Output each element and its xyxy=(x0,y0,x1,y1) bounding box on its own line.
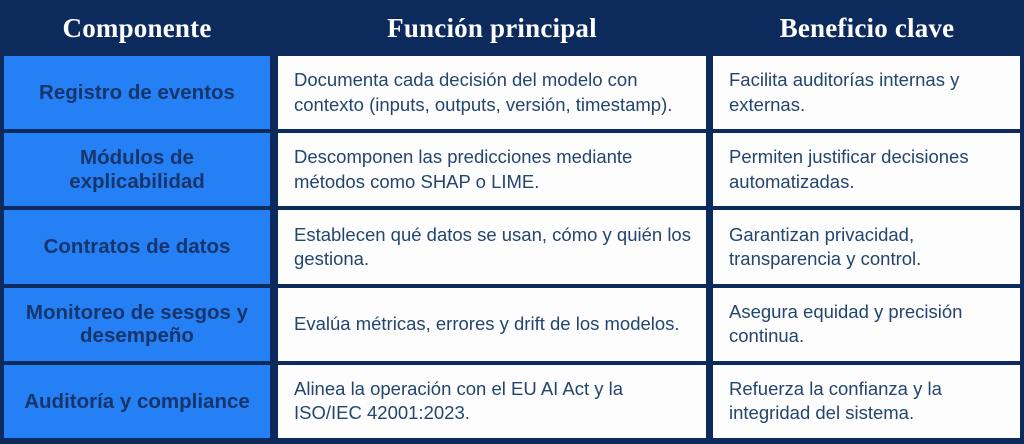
row-beneficio-cell: Facilita auditorías internas y externas. xyxy=(713,56,1020,129)
row-beneficio-text: Garantizan privacidad, transparencia y c… xyxy=(729,223,1006,272)
comparison-table: Componente Función principal Beneficio c… xyxy=(0,0,1024,444)
table-row: Auditoría y compliance Alinea la operaci… xyxy=(4,365,1020,438)
row-beneficio-cell: Permiten justificar decisiones automatiz… xyxy=(713,133,1020,206)
column-header-funcion-principal: Función principal xyxy=(274,0,710,56)
table-row: Módulos de explicabilidad Descomponen la… xyxy=(4,133,1020,206)
column-header-label: Función principal xyxy=(387,13,597,44)
row-funcion-text: Alinea la operación con el EU AI Act y l… xyxy=(294,377,692,426)
row-beneficio-text: Refuerza la confianza y la integridad de… xyxy=(729,377,1006,426)
row-funcion-text: Documenta cada decisión del modelo con c… xyxy=(294,68,692,117)
row-beneficio-cell: Refuerza la confianza y la integridad de… xyxy=(713,365,1020,438)
row-label-cell: Auditoría y compliance xyxy=(4,365,270,438)
row-label-text: Módulos de explicabilidad xyxy=(14,146,260,193)
row-label-cell: Registro de eventos xyxy=(4,56,270,129)
row-funcion-cell: Evalúa métricas, errores y drift de los … xyxy=(278,288,706,361)
row-funcion-text: Descomponen las predicciones mediante mé… xyxy=(294,145,692,194)
row-label-cell: Contratos de datos xyxy=(4,210,270,283)
row-label-cell: Módulos de explicabilidad xyxy=(4,133,270,206)
row-funcion-cell: Establecen qué datos se usan, cómo y qui… xyxy=(278,210,706,283)
row-label-cell: Monitoreo de sesgos y desempeño xyxy=(4,288,270,361)
row-label-text: Contratos de datos xyxy=(14,235,260,258)
column-header-beneficio-clave: Beneficio clave xyxy=(710,0,1024,56)
row-label-text: Auditoría y compliance xyxy=(14,390,260,413)
column-header-label: Beneficio clave xyxy=(780,13,955,44)
table-row: Contratos de datos Establecen qué datos … xyxy=(4,210,1020,283)
row-funcion-cell: Documenta cada decisión del modelo con c… xyxy=(278,56,706,129)
table-row: Registro de eventos Documenta cada decis… xyxy=(4,56,1020,129)
row-funcion-text: Evalúa métricas, errores y drift de los … xyxy=(294,312,692,336)
row-beneficio-cell: Garantizan privacidad, transparencia y c… xyxy=(713,210,1020,283)
row-funcion-cell: Descomponen las predicciones mediante mé… xyxy=(278,133,706,206)
row-funcion-cell: Alinea la operación con el EU AI Act y l… xyxy=(278,365,706,438)
row-label-text: Monitoreo de sesgos y desempeño xyxy=(14,301,260,348)
row-label-text: Registro de eventos xyxy=(14,81,260,104)
row-beneficio-cell: Asegura equidad y precisión continua. xyxy=(713,288,1020,361)
table-row: Monitoreo de sesgos y desempeño Evalúa m… xyxy=(4,288,1020,361)
row-beneficio-text: Asegura equidad y precisión continua. xyxy=(729,300,1006,349)
table-header-row: Componente Función principal Beneficio c… xyxy=(0,0,1024,56)
column-header-label: Componente xyxy=(63,13,212,44)
table-body: Registro de eventos Documenta cada decis… xyxy=(0,56,1024,444)
row-funcion-text: Establecen qué datos se usan, cómo y qui… xyxy=(294,223,692,272)
column-header-componente: Componente xyxy=(0,0,274,56)
row-beneficio-text: Facilita auditorías internas y externas. xyxy=(729,68,1006,117)
row-beneficio-text: Permiten justificar decisiones automatiz… xyxy=(729,145,1006,194)
